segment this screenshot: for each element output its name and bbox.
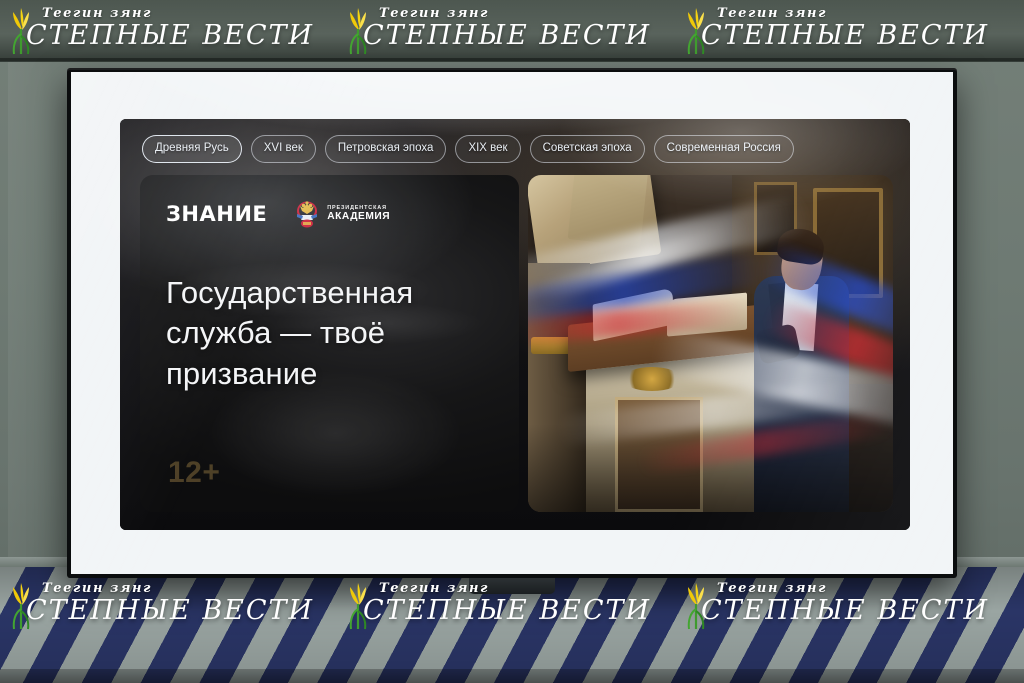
slide-photo-panel xyxy=(528,175,893,512)
screenshot-root: Древняя Русь XVI век Петровская эпоха XI… xyxy=(0,0,1024,683)
wall-light-column xyxy=(8,60,54,620)
znanie-logo: ЗНАНИЕ xyxy=(166,202,267,226)
academy-text: ПРЕЗИДЕНТСКАЯ АКАДЕМИЯ xyxy=(327,206,390,223)
tab-xvi-vek[interactable]: XVI век xyxy=(251,135,316,164)
tab-label: Древняя Русь xyxy=(155,142,229,154)
tab-label: Современная Россия xyxy=(667,142,781,154)
presentation-slide: Древняя Русь XVI век Петровская эпоха XI… xyxy=(120,119,910,530)
tab-sovremennaya-rossiya[interactable]: Современная Россия xyxy=(654,135,794,164)
slide-title: Государственная служба — твоё призвание xyxy=(166,273,493,394)
photo-gilded-ornament xyxy=(623,367,681,391)
era-tab-bar: Древняя Русь XVI век Петровская эпоха XI… xyxy=(142,135,892,163)
tab-label: XVI век xyxy=(264,142,303,154)
slide-text-panel: ЗНАНИЕ xyxy=(140,175,519,512)
photo-open-book-right-page xyxy=(667,293,747,337)
wall-top-band xyxy=(0,0,1024,62)
tab-label: Советская эпоха xyxy=(543,142,632,154)
tab-drevnyaya-rus[interactable]: Древняя Русь xyxy=(142,135,242,164)
double-headed-eagle-emblem-icon xyxy=(293,199,321,229)
tab-label: XIX век xyxy=(468,142,507,154)
television-glass: Древняя Русь XVI век Петровская эпоха XI… xyxy=(71,72,953,574)
age-rating-badge: 12+ xyxy=(168,456,220,490)
tab-petrovskaya-epoha[interactable]: Петровская эпоха xyxy=(325,135,447,164)
tab-xix-vek[interactable]: XIX век xyxy=(455,135,520,164)
tab-label: Петровская эпоха xyxy=(338,142,434,154)
presidential-academy-logo: ПРЕЗИДЕНТСКАЯ АКАДЕМИЯ xyxy=(293,199,390,229)
tab-sovetskaya-epoha[interactable]: Советская эпоха xyxy=(530,135,645,164)
tv-stand-neck xyxy=(469,578,555,594)
photo-bottom-vignette xyxy=(528,424,893,512)
photo-parchment-scroll-2 xyxy=(567,175,649,246)
academy-line-main: АКАДЕМИЯ xyxy=(327,211,390,222)
wall-seam-line xyxy=(0,58,1024,61)
television-bezel: Древняя Русь XVI век Петровская эпоха XI… xyxy=(67,68,957,578)
television-display-area: Древняя Русь XVI век Петровская эпоха XI… xyxy=(120,119,910,530)
floor-shadow-strip xyxy=(0,669,1024,683)
brand-row: ЗНАНИЕ xyxy=(166,199,493,229)
slide-panels: ЗНАНИЕ xyxy=(140,175,893,512)
